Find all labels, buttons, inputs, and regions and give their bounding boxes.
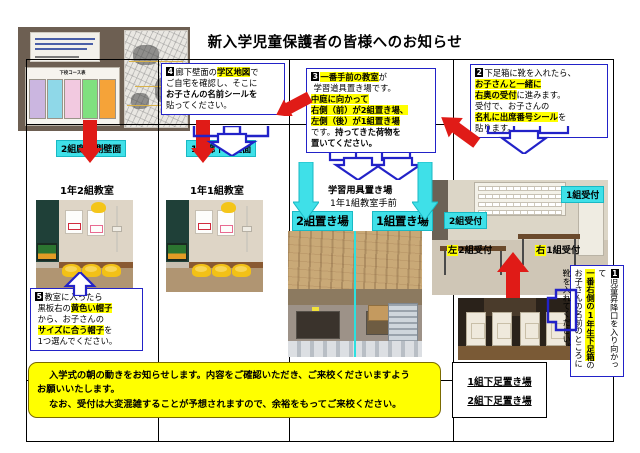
heading-storage-title: 学習用具置き場 — [328, 182, 392, 196]
chip-reception-class1: 1組受付 — [561, 186, 604, 203]
red-arrow-to-corridor — [274, 82, 314, 116]
callout-1-line-1: 1児童昇降口を入り向かって — [595, 269, 620, 373]
callout-3-line-3: 中庭に向かって — [311, 94, 431, 105]
callout-2-line-3: 右奥の受付に進みます。 — [475, 90, 603, 101]
red-arrow-to-reception — [437, 112, 483, 152]
callout-3-line-1: 3一番手前の教室が — [311, 72, 431, 83]
callout-2-line-2: お子さんと一緒に — [475, 79, 603, 90]
callout-3-line-4: 右側（前）が2組置き場、 — [311, 105, 431, 116]
blue-arrow-callout-1 — [546, 288, 578, 332]
chip-reception-class2: 2組受付 — [444, 212, 487, 229]
callout-5-line-3: から、お子さんの — [35, 314, 138, 325]
callout-4-line-1: 4廊下壁面の学区地図で — [166, 67, 280, 78]
callout-1: 1児童昇降口を入り向かって 一番右側の1年生下足箱の お子さんの名前のところに … — [570, 265, 624, 377]
notice-page: 新入学児童保護者の皆様へのお知らせ 下校コース表 — [0, 0, 640, 453]
red-arrow-down-class2 — [83, 120, 97, 163]
callout-3-number: 3 — [311, 72, 319, 81]
bottom-note: 入学式の朝の動きをお知らせします。内容をご確認いただき、ご来校くださいますよう … — [28, 362, 441, 418]
cyan-arrow-front-class2 — [293, 162, 319, 220]
callout-2-line-4: 受付で、お子さんの — [475, 101, 603, 112]
callout-5-line-4: サイズに合う帽子を — [35, 325, 138, 336]
shoe-place-box: 1組下足置き場 2組下足置き場 — [452, 362, 547, 418]
callout-2-line-1: 2下足箱に靴を入れたら、 — [475, 68, 603, 79]
callout-4-line-4: 貼ってください。 — [166, 100, 280, 111]
callout-1-line-2: 一番右側の1年生下足箱の — [584, 269, 596, 373]
label-right-reception: 右1組受付 — [535, 242, 580, 256]
heading-classroom-2: 1年2組教室 — [60, 182, 114, 197]
callout-5-line-5: 1つ選んでください。 — [35, 336, 138, 347]
callout-3-line-2: 学習道具置き場です。 — [311, 83, 431, 94]
callout-5-line-2: 黒板右の黄色い帽子 — [35, 303, 138, 314]
callout-2-number: 2 — [475, 68, 483, 77]
classroom-photo-class1 — [166, 200, 263, 292]
storage-divider-line — [354, 231, 356, 357]
cyan-arrow-back-class1 — [412, 162, 438, 220]
callout-3: 3一番手前の教室が 学習道具置き場です。 中庭に向かって 右側（前）が2組置き場… — [306, 68, 436, 153]
bottom-note-line-3: なお、受付は大変混雑することが予想されますので、余裕をもってご来校ください。 — [37, 398, 432, 412]
label-left-reception: 左2組受付 — [447, 242, 492, 256]
blue-arrow-callout-3 — [326, 152, 422, 180]
blue-arrow-callout-4 — [188, 126, 284, 156]
callout-4-number: 4 — [166, 67, 174, 76]
red-arrow-up-to-reception — [496, 252, 530, 298]
callout-5: 5教室に入ったら 黒板右の黄色い帽子 から、お子さんの サイズに合う帽子を 1つ… — [30, 288, 143, 351]
callout-4: 4廊下壁面の学区地図で ご自宅を確認し、そこに お子さんの名前シールを 貼ってく… — [161, 63, 285, 115]
heading-storage-sub: 1年1組教室手前 — [330, 195, 397, 209]
page-title: 新入学児童保護者の皆様へのお知らせ — [195, 31, 475, 52]
label-shoe-place-1: 1組下足置き場 — [467, 374, 531, 388]
callout-3-line-7: 置いてください。 — [311, 138, 431, 149]
bottom-note-line-1: 入学式の朝の動きをお知らせします。内容をご確認いただき、ご来校くださいますよう — [37, 369, 432, 383]
callout-4-line-3: お子さんの名前シールを — [166, 89, 280, 100]
blue-arrow-callout-2 — [484, 126, 580, 154]
callout-3-line-5: 左側（後）が1組置き場 — [311, 116, 431, 127]
callout-2-line-5: 名札に出席番号シールを — [475, 112, 603, 123]
blue-arrow-callout-5 — [60, 272, 100, 296]
callout-3-line-6: です。持ってきた荷物を — [311, 127, 431, 138]
callout-4-line-2: ご自宅を確認し、そこに — [166, 78, 280, 89]
heading-classroom-1: 1年1組教室 — [190, 182, 244, 197]
label-shoe-place-2: 2組下足置き場 — [467, 393, 531, 407]
wall-notice-paper — [30, 32, 100, 62]
storage-room-photo — [288, 231, 422, 357]
bottom-note-line-2: お願いいたします。 — [37, 383, 432, 397]
callout-5-number: 5 — [35, 292, 43, 301]
